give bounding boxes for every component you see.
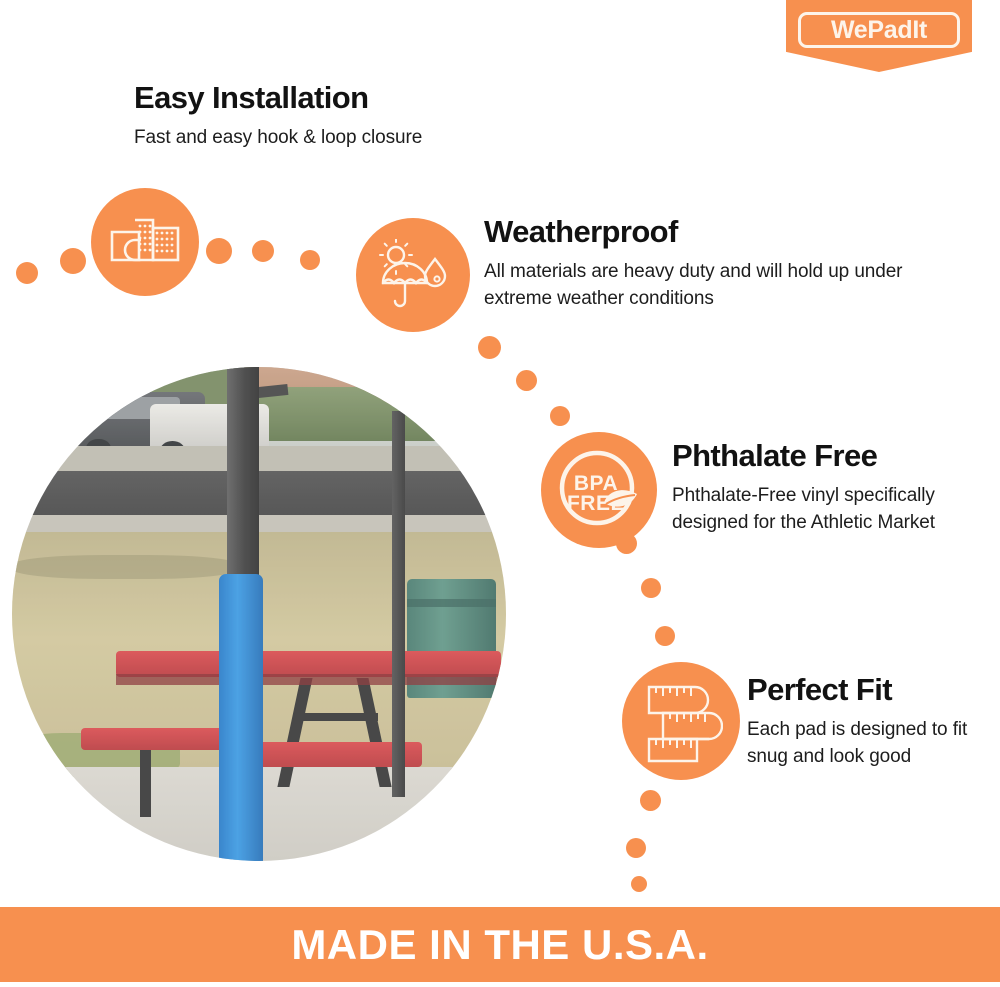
made-in-usa-banner: MADE IN THE U.S.A. [0,907,1000,982]
trail-dot [640,790,661,811]
feature-description-weatherproof: All materials are heavy duty and will ho… [484,258,914,312]
product-photo-scene [12,367,506,861]
feature-title-weatherproof: Weatherproof [484,214,678,250]
trail-dot [626,838,646,858]
made-in-usa-text: MADE IN THE U.S.A. [291,921,708,969]
measuring-tape-icon [622,662,740,780]
trail-dot [550,406,570,426]
feature-title-perfect-fit: Perfect Fit [747,672,892,708]
trail-dot [655,626,675,646]
trail-dot [641,578,661,598]
feature-description-perfect-fit: Each pad is designed to fit snug and loo… [747,716,982,770]
product-photo [12,367,506,861]
feature-description-phthalate-free: Phthalate-Free vinyl specifically design… [672,482,942,536]
brand-logo-frame: WePadIt [798,12,960,48]
hook-and-loop-icon [91,188,199,296]
trail-dot [252,240,274,262]
feature-title-easy-installation: Easy Installation [134,80,368,116]
brand-logo-badge: WePadIt [786,0,972,72]
brand-logo-text: WePadIt [831,18,927,43]
feature-description-easy-installation: Fast and easy hook & loop closure [134,124,554,151]
trail-dot [16,262,38,284]
sun-umbrella-raindrop-icon [356,218,470,332]
trail-dot [516,370,537,391]
trail-dot [206,238,232,264]
infographic-root: WePadIt Easy Installation Fast and easy … [0,0,1000,987]
brand-logo-pad: Pad [867,16,912,44]
trail-dot [478,336,501,359]
trail-dot [300,250,320,270]
feature-title-phthalate-free: Phthalate Free [672,438,877,474]
bpa-free-leaf-icon: BPA FREE [541,432,657,548]
brand-logo-it: It [912,16,927,44]
trail-dot [631,876,647,892]
trail-dot [60,248,86,274]
brand-logo-we: We [831,16,867,44]
